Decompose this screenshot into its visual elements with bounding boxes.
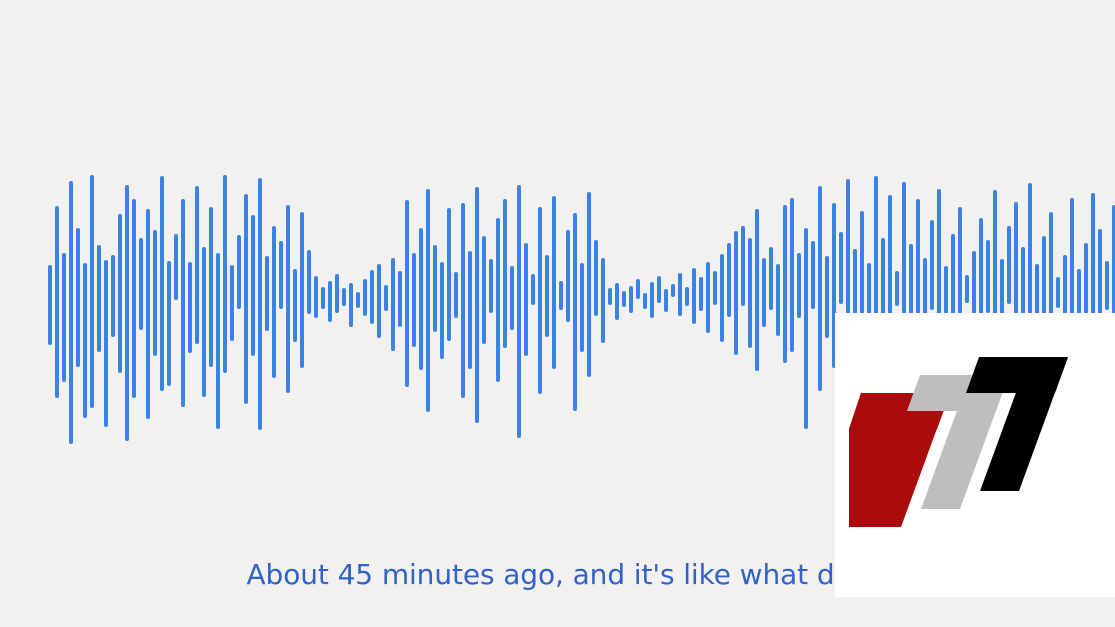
- t-black-bar: [966, 357, 1068, 393]
- screen-root: About 45 minutes ago, and it's like what…: [0, 0, 1115, 627]
- three-t-logo-icon: [849, 355, 1099, 555]
- logo-panel[interactable]: [835, 313, 1115, 597]
